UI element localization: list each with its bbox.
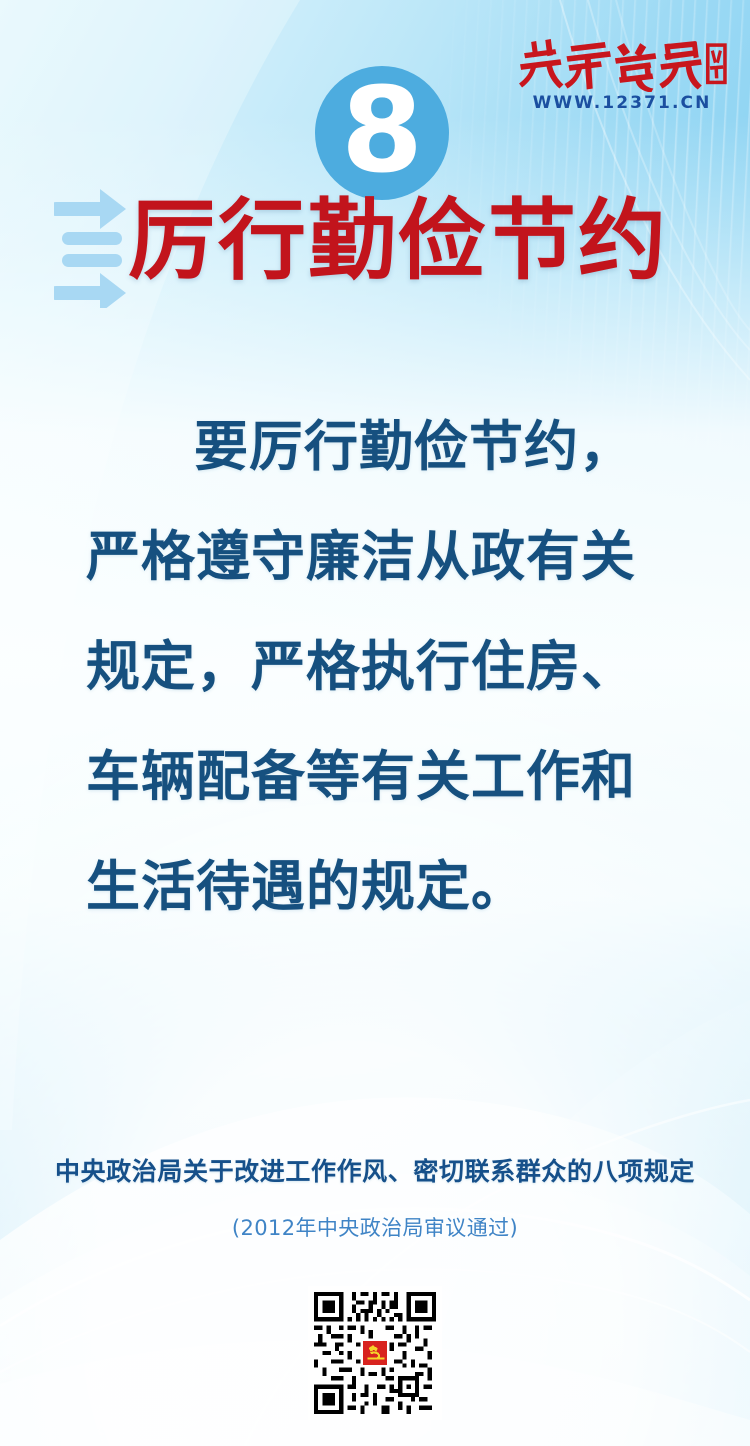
item-number-badge: 8	[315, 66, 449, 200]
poster-canvas: WWW.12371.CN 8 厉行勤俭节约 要厉行勤俭节约， 严格遵守廉洁从政有…	[0, 0, 750, 1446]
site-logo[interactable]: WWW.12371.CN	[516, 36, 728, 113]
body-line: 生活待遇的规定。	[86, 832, 664, 942]
body-copy: 要厉行勤俭节约， 严格遵守廉洁从政有关 规定，严格执行住房、 车辆配备等有关工作…	[0, 392, 750, 942]
title-row: 厉行勤俭节约	[0, 186, 750, 316]
qr-code-matrix	[314, 1292, 436, 1414]
item-number-text: 8	[341, 71, 423, 189]
footer-regulation-title: 中央政治局关于改进工作作风、密切联系群众的八项规定	[0, 1152, 750, 1188]
logo-url-text: WWW.12371.CN	[516, 93, 728, 113]
body-line: 规定，严格执行住房、	[86, 612, 664, 722]
footer-adoption-note: (2012年中央政治局审议通过)	[0, 1212, 750, 1242]
body-line: 车辆配备等有关工作和	[86, 722, 664, 832]
footer: 中央政治局关于改进工作作风、密切联系群众的八项规定 (2012年中央政治局审议通…	[0, 1152, 750, 1242]
qr-code[interactable]	[308, 1286, 442, 1420]
triple-right-arrow-icon	[54, 188, 136, 308]
body-line: 严格遵守廉洁从政有关	[86, 502, 664, 612]
gongchandangyuan-wordmark-icon	[516, 36, 728, 92]
body-line: 要厉行勤俭节约，	[86, 392, 664, 502]
page-title: 厉行勤俭节约	[128, 192, 668, 291]
